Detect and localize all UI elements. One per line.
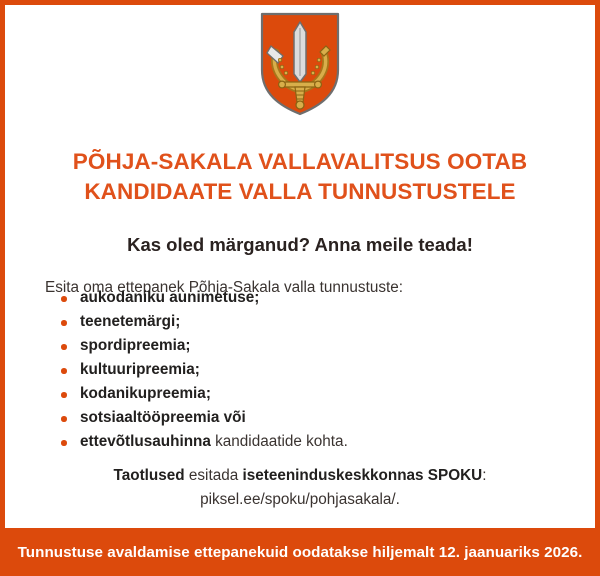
award-name: ettevõtlusauhinna xyxy=(80,433,211,450)
apply-colon: : xyxy=(482,467,486,484)
title-line-1: PÕHJA-SAKALA VALLAVALITSUS OOTAB xyxy=(5,147,595,177)
apply-url[interactable]: piksel.ee/spoku/pohjasakala/. xyxy=(5,488,595,512)
bullet-icon xyxy=(61,296,67,302)
list-item: kodanikupreemia; xyxy=(50,382,550,406)
list-item: spordipreemia; xyxy=(50,334,550,358)
bullet-icon xyxy=(61,368,67,374)
title-line-2: KANDIDAATE VALLA TUNNUSTUSTELE xyxy=(5,177,595,207)
award-name: kultuuripreemia; xyxy=(80,361,200,378)
list-item: teenetemärgi; xyxy=(50,310,550,334)
award-suffix: kandidaatide kohta. xyxy=(211,433,348,450)
bullet-icon xyxy=(61,344,67,350)
coat-of-arms-icon xyxy=(260,12,340,116)
footer-banner: Tunnustuse avaldamise ettepanekuid oodat… xyxy=(0,528,600,576)
list-item: sotsiaaltööpreemia või xyxy=(50,406,550,430)
bullet-icon xyxy=(61,392,67,398)
bullet-icon xyxy=(61,416,67,422)
apply-prefix: Taotlused xyxy=(114,467,185,484)
bullet-icon xyxy=(61,440,67,446)
award-name: spordipreemia; xyxy=(80,337,191,354)
award-name: sotsiaaltööpreemia või xyxy=(80,409,246,426)
poster-root: PÕHJA-SAKALA VALLAVALITSUS OOTAB KANDIDA… xyxy=(0,0,600,576)
award-name: aukodaniku aunimetuse; xyxy=(80,289,259,306)
list-item: ettevõtlusauhinna kandidaatide kohta. xyxy=(50,430,550,454)
bullet-icon xyxy=(61,320,67,326)
apply-line: Taotlused esitada iseteeninduskeskkonnas… xyxy=(114,467,487,484)
award-name: kodanikupreemia; xyxy=(80,385,211,402)
apply-portal: iseteeninduskeskkonnas SPOKU xyxy=(242,467,482,484)
awards-list: aukodaniku aunimetuse; teenetemärgi; spo… xyxy=(50,286,550,454)
list-item: aukodaniku aunimetuse; xyxy=(50,286,550,310)
page-title: PÕHJA-SAKALA VALLAVALITSUS OOTAB KANDIDA… xyxy=(5,147,595,207)
coat-of-arms xyxy=(5,12,595,117)
deadline-text: Tunnustuse avaldamise ettepanekuid oodat… xyxy=(18,544,583,561)
apply-middle: esitada xyxy=(185,467,243,484)
apply-instructions: Taotlused esitada iseteeninduskeskkonnas… xyxy=(5,464,595,512)
subtitle: Kas oled märganud? Anna meile teada! xyxy=(5,232,595,258)
award-name: teenetemärgi; xyxy=(80,313,180,330)
list-item: kultuuripreemia; xyxy=(50,358,550,382)
